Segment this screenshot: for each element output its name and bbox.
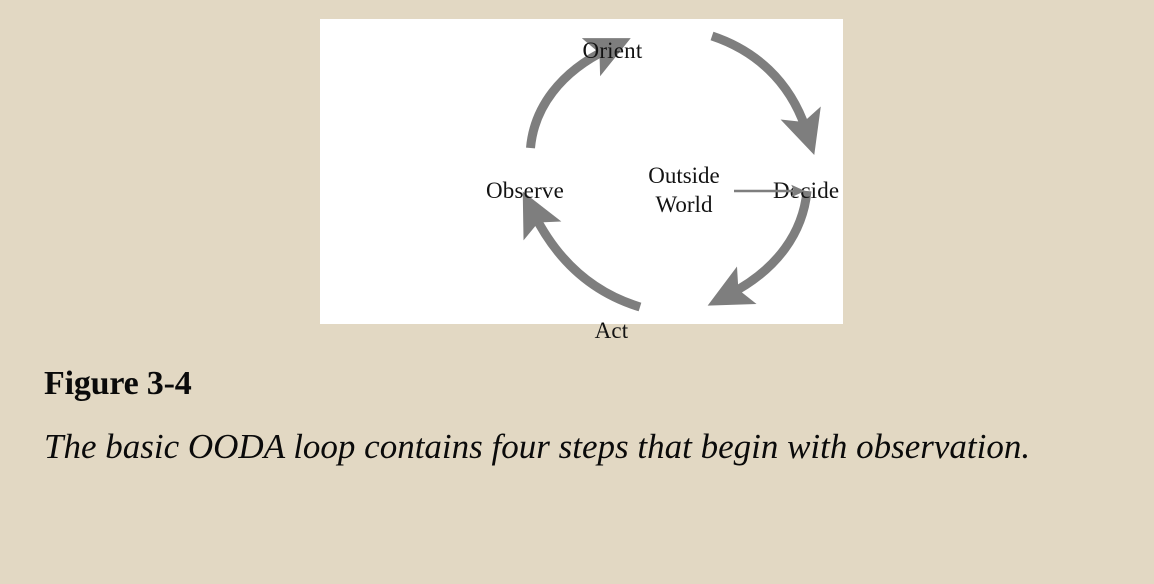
outside-world-line-1: Outside (632, 162, 736, 191)
ooda-loop-diagram (320, 19, 843, 324)
node-label-orient: Orient (320, 39, 843, 62)
figure-caption-block: Figure 3-4 The basic OODA loop contains … (44, 364, 1104, 477)
node-label-act: Act (320, 319, 843, 342)
arrow-act-to-observe (534, 214, 640, 307)
figure-page: Orient Decide Act Observe Outside World … (0, 0, 1154, 584)
outside-world-line-2: World (632, 191, 736, 220)
arrow-observe-to-orient (531, 49, 609, 148)
figure-number: Figure 3-4 (44, 364, 1104, 404)
figure-image-panel: Orient Decide Act Observe Outside World (320, 19, 843, 324)
figure-caption-text: The basic OODA loop contains four steps … (44, 418, 1064, 477)
node-label-observe: Observe (486, 179, 564, 202)
arrow-outside-world-to-observe (733, 174, 811, 208)
outside-world-label: Outside World (632, 162, 736, 219)
